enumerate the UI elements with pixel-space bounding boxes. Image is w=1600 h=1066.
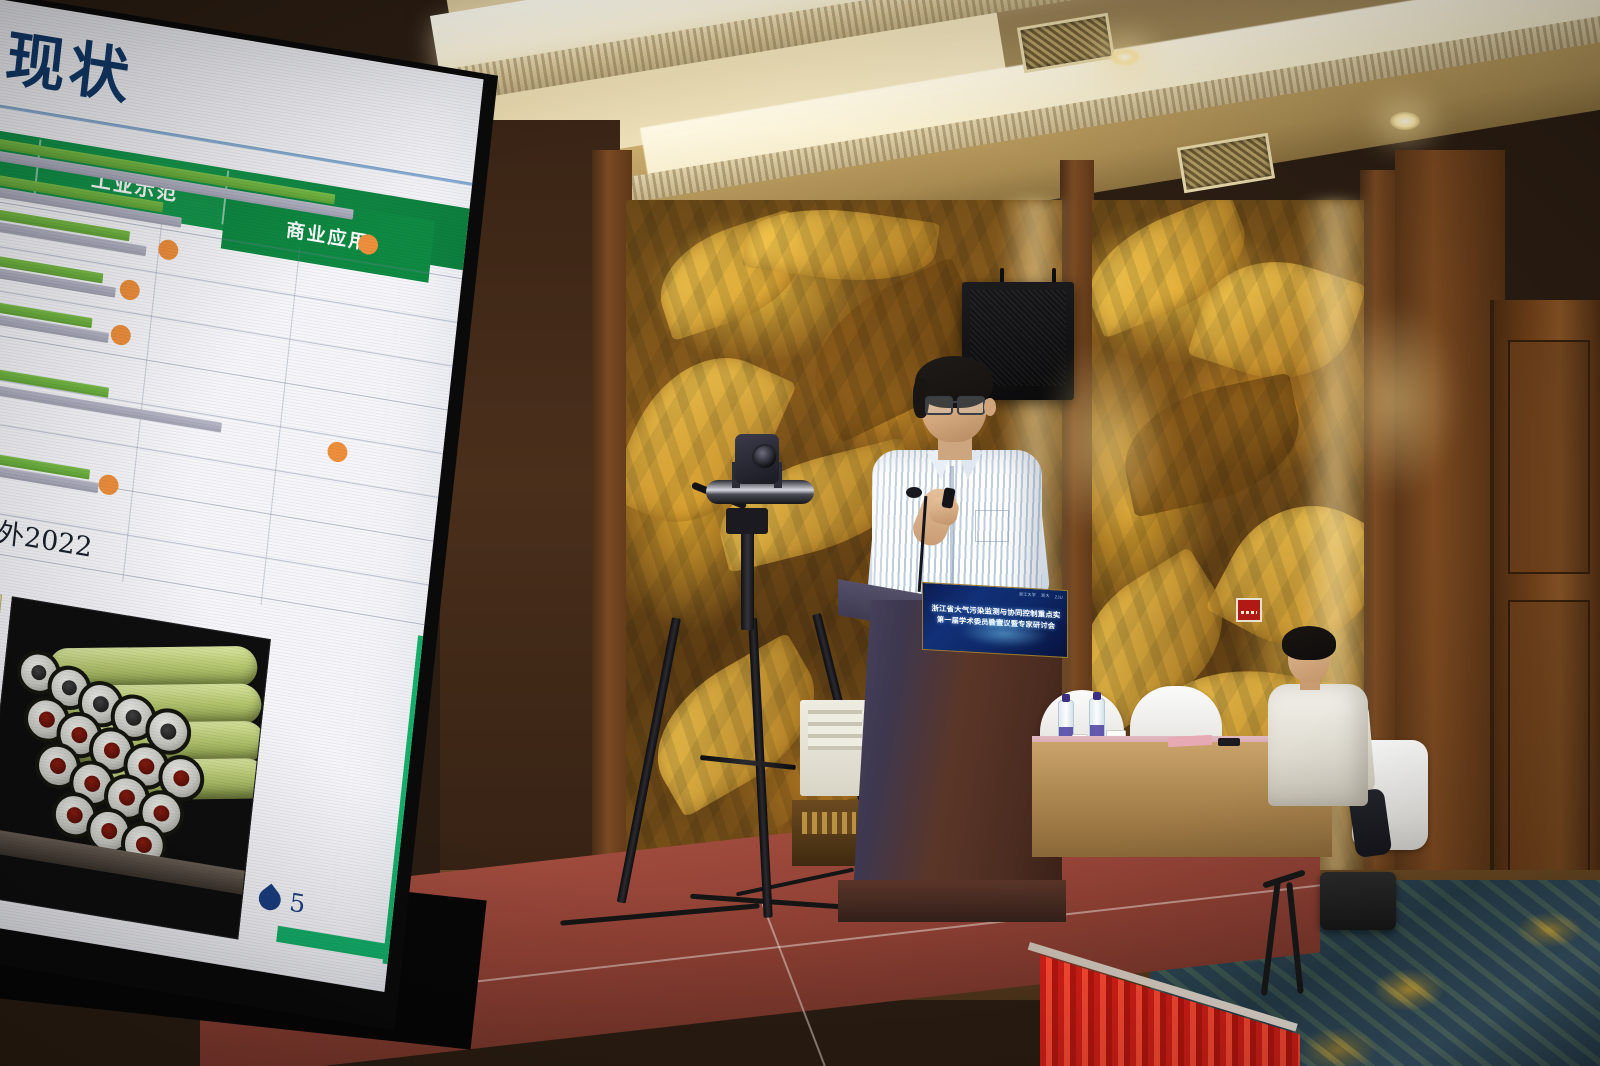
eyeglasses-right-lens	[957, 396, 985, 415]
mural-leaf	[742, 200, 940, 293]
slide-page-number: 5	[257, 882, 306, 919]
tripod-head	[726, 508, 768, 534]
page-number-value: 5	[288, 888, 307, 919]
wall-right-panel	[1395, 150, 1505, 980]
door-panel	[1508, 340, 1590, 574]
ceiling-downlight	[1390, 112, 1420, 130]
fire-alarm-label	[1241, 611, 1257, 614]
speaker-shirt-pocket	[975, 510, 1009, 542]
exit-door[interactable]	[1490, 300, 1600, 940]
conference-room-photo: 发展现状 浙 阶段 工业示范 商业应用	[0, 0, 1600, 1066]
mural-leaf	[1092, 200, 1263, 339]
fire-alarm-panel[interactable]	[1236, 598, 1262, 622]
membrane-module-photo	[0, 596, 271, 939]
speaker-ear	[984, 398, 996, 416]
chevron-right-icon	[254, 883, 285, 914]
marker-foreign	[119, 278, 141, 301]
banner-sponsor-logos: 浙江大学 浙大 ZJU	[1019, 591, 1063, 599]
camera-bag[interactable]	[1320, 872, 1396, 930]
decorative-ornament	[802, 812, 856, 834]
banner-logo-1: 浙江大学	[1019, 591, 1036, 598]
microphone-capsule	[906, 487, 922, 498]
marker-foreign	[98, 473, 120, 496]
wall-light-glow	[1330, 300, 1460, 500]
eyeglasses-bridge	[948, 401, 958, 403]
remote-control[interactable]	[1218, 738, 1240, 746]
podium-banner: 浙江大学 浙大 ZJU 浙江省大气污染监测与协同控制重点实验室 第一届学术委员会…	[922, 582, 1068, 658]
ceiling-downlight	[1110, 48, 1140, 66]
attendee-hair	[1282, 626, 1336, 660]
marker-foreign	[327, 440, 349, 463]
banner-logo-3: ZJU	[1055, 594, 1063, 599]
monitor-vent-lines	[808, 710, 862, 750]
door-panel	[1508, 600, 1590, 904]
eyeglasses-left-lens	[925, 396, 953, 415]
wall-light-glow	[1040, 340, 1170, 540]
banner-logo-2: 浙大	[1041, 593, 1050, 599]
marker-foreign	[157, 238, 179, 261]
slide-accent-bar	[276, 926, 396, 962]
marker-foreign	[110, 323, 132, 346]
attendee-shirt	[1268, 684, 1368, 806]
mural-leaf	[646, 209, 816, 341]
tripod-center-column	[741, 530, 754, 630]
podium-base	[838, 880, 1066, 922]
camera-lens	[752, 444, 778, 470]
